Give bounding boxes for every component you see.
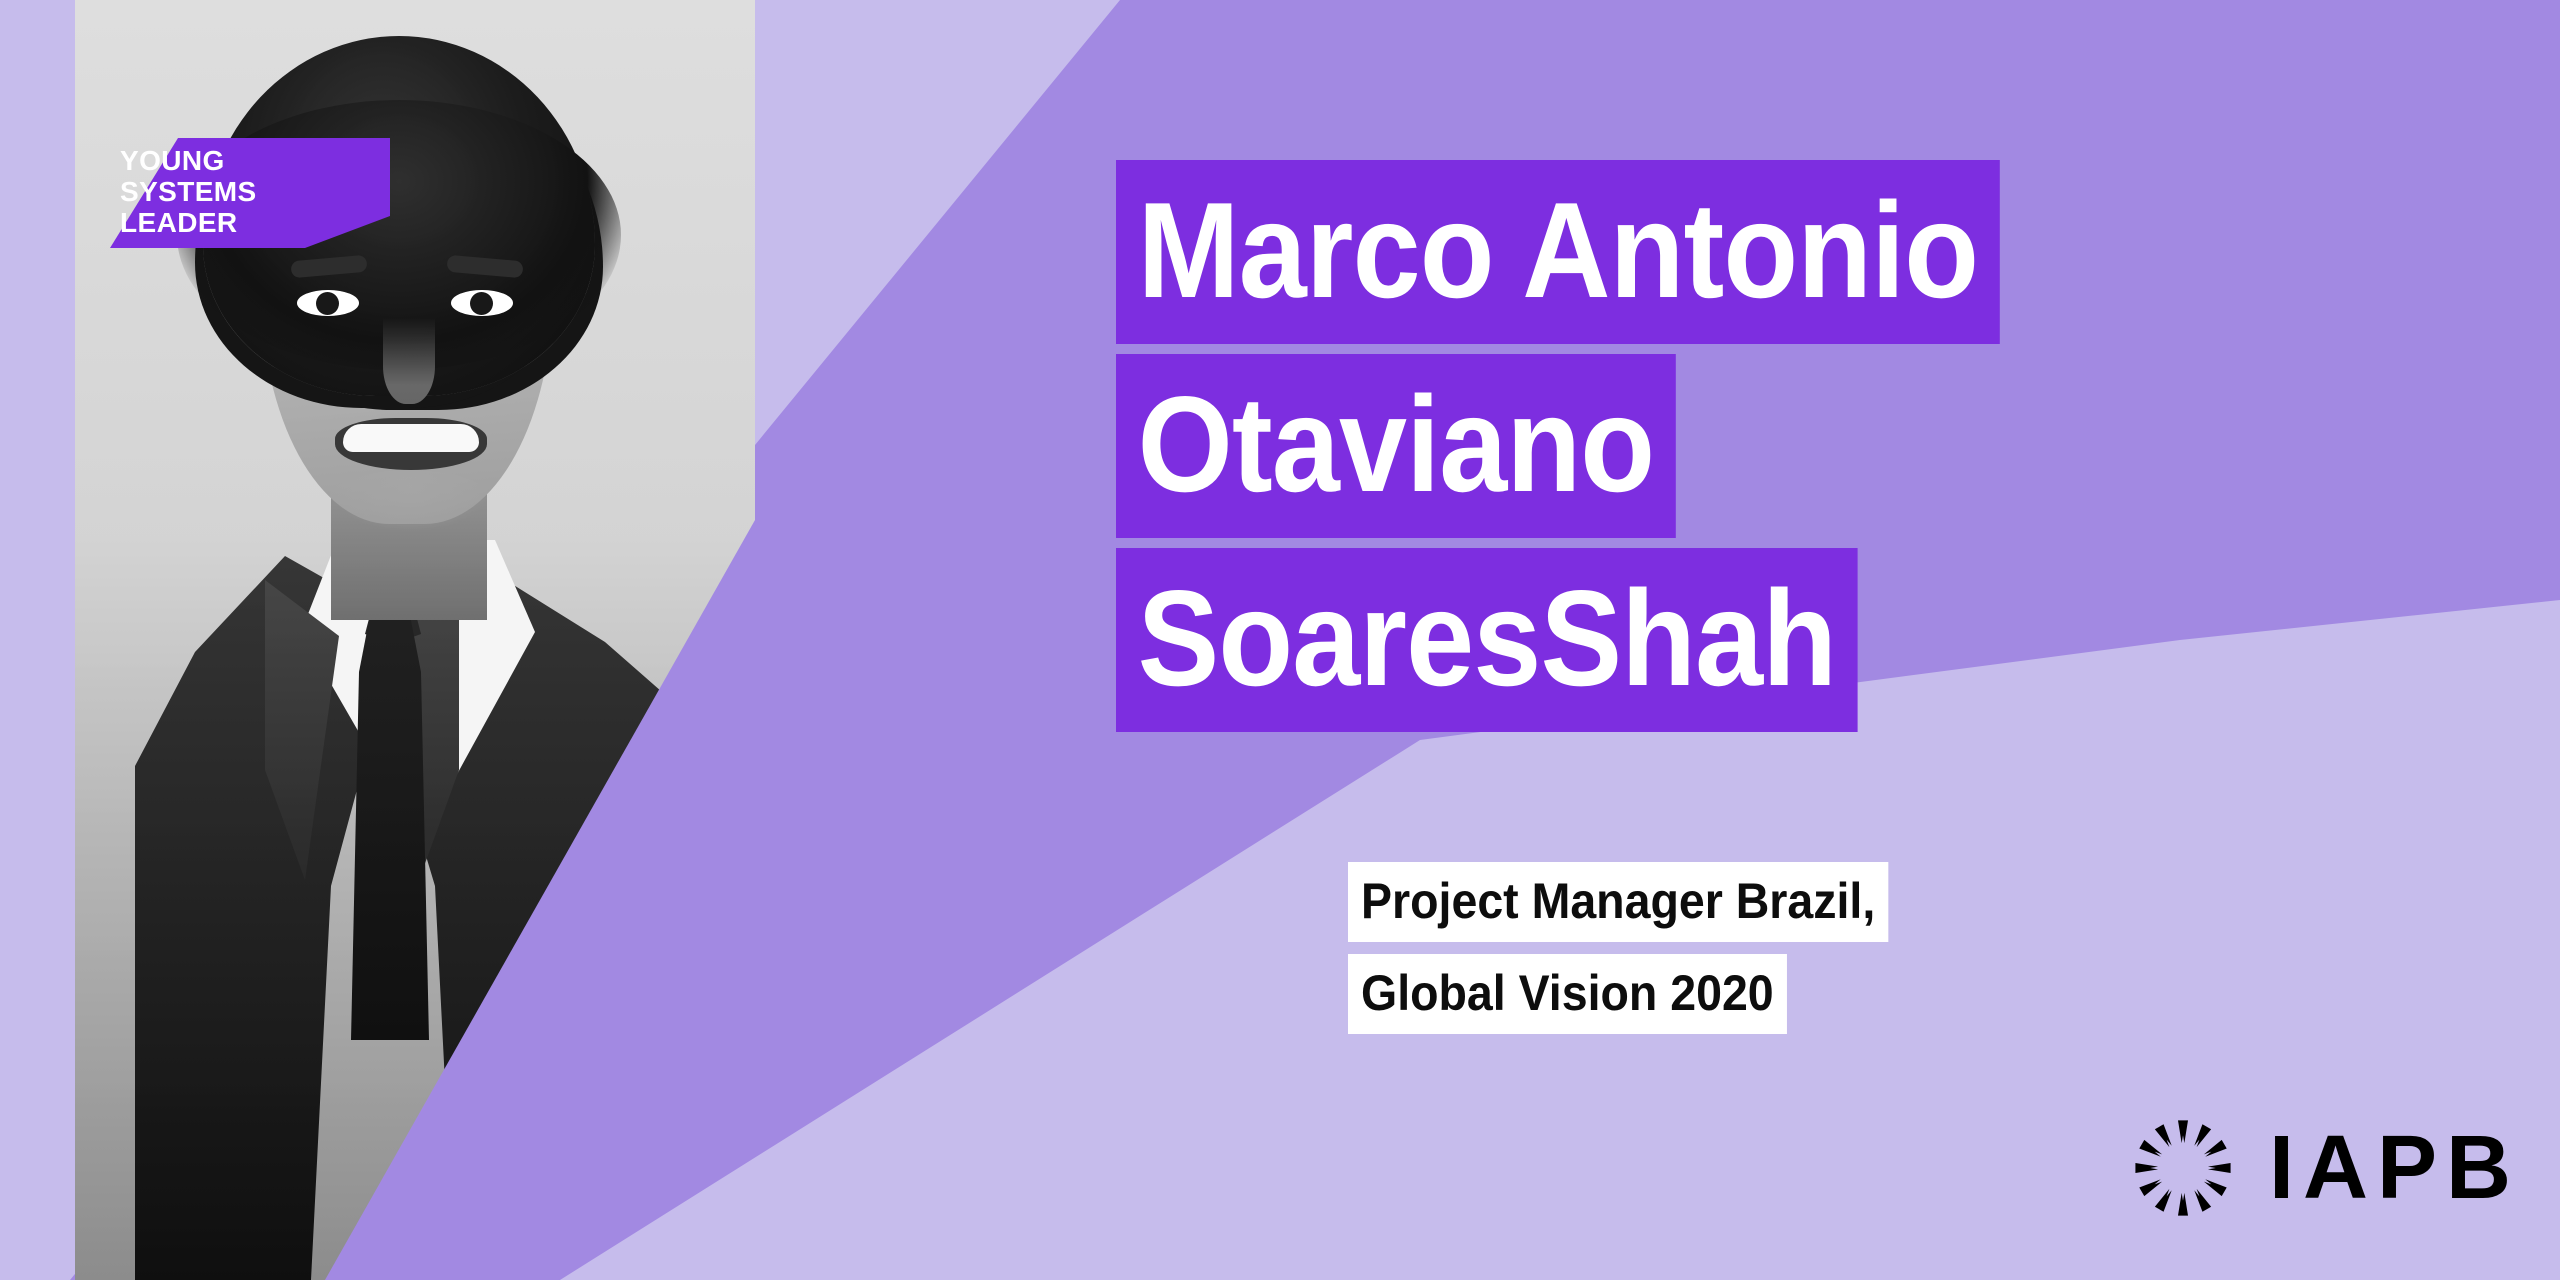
subtitle-row-1: Project Manager Brazil, [1348, 862, 1929, 954]
speaker-title: Project Manager Brazil, Global Vision 20… [1348, 862, 1929, 1046]
portrait-eye-left [297, 290, 359, 316]
badge-line-1: YOUNG [120, 145, 390, 176]
name-row-3: SoaresShah [1116, 548, 2098, 742]
iapb-logo-text: IAPB [2269, 1123, 2520, 1213]
subtitle-line-1: Project Manager Brazil, [1348, 862, 1888, 942]
speaker-name: Marco Antonio Otaviano SoaresShah [1116, 160, 2098, 742]
portrait-mouth [335, 418, 487, 470]
portrait-teeth [343, 424, 479, 452]
iapb-logo: IAPB [2131, 1116, 2520, 1220]
subtitle-row-2: Global Vision 2020 [1348, 954, 1929, 1046]
badge-line-2: SYSTEMS [120, 176, 390, 207]
portrait-tie [351, 600, 429, 1040]
portrait-nose [383, 318, 435, 404]
name-line-3: SoaresShah [1116, 548, 1858, 732]
portrait-chin [327, 470, 493, 532]
subtitle-line-2: Global Vision 2020 [1348, 954, 1787, 1034]
young-systems-leader-badge-text: YOUNG SYSTEMS LEADER [110, 145, 390, 238]
iapb-sunburst-icon [2131, 1116, 2235, 1220]
name-row-2: Otaviano [1116, 354, 2098, 548]
speaker-announcement-banner: YOUNG SYSTEMS LEADER Marco Antonio Otavi… [0, 0, 2560, 1280]
name-line-1: Marco Antonio [1116, 160, 2000, 344]
name-line-2: Otaviano [1116, 354, 1676, 538]
portrait-eye-right [451, 290, 513, 316]
name-row-1: Marco Antonio [1116, 160, 2098, 354]
badge-line-3: LEADER [120, 207, 390, 238]
